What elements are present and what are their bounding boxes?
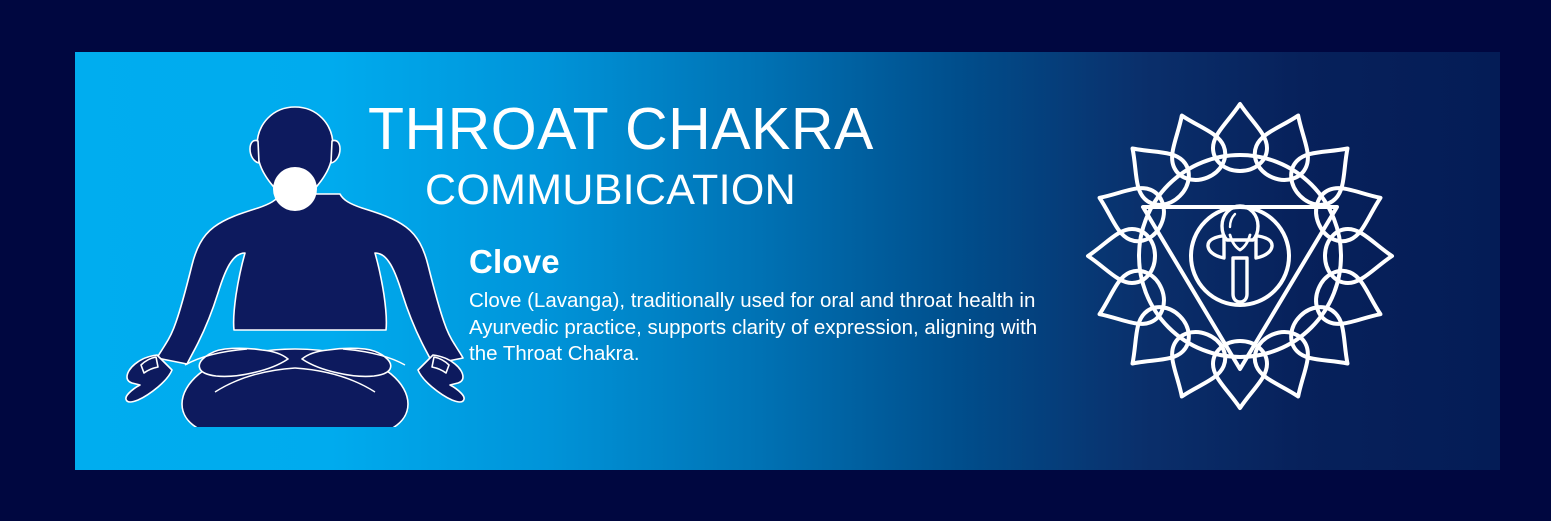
clove-bud-icon — [1208, 206, 1272, 302]
throat-glow-icon — [273, 167, 317, 211]
item-description: Clove (Lavanga), traditionally used for … — [469, 288, 1039, 368]
text-block: THROAT CHAKRA COMMUBICATION Clove Clove … — [368, 100, 1008, 368]
vishuddha-chakra-symbol-icon — [1088, 104, 1392, 408]
chakra-symbol — [1080, 96, 1400, 416]
page-title: THROAT CHAKRA — [368, 100, 1008, 159]
outer-circle-icon — [1139, 155, 1341, 357]
item-name: Clove — [469, 245, 1008, 278]
inner-circle-icon — [1191, 207, 1289, 305]
throat-chakra-banner: THROAT CHAKRA COMMUBICATION Clove Clove … — [0, 0, 1551, 521]
page-subtitle: COMMUBICATION — [425, 169, 1008, 212]
gradient-panel: THROAT CHAKRA COMMUBICATION Clove Clove … — [75, 52, 1500, 470]
